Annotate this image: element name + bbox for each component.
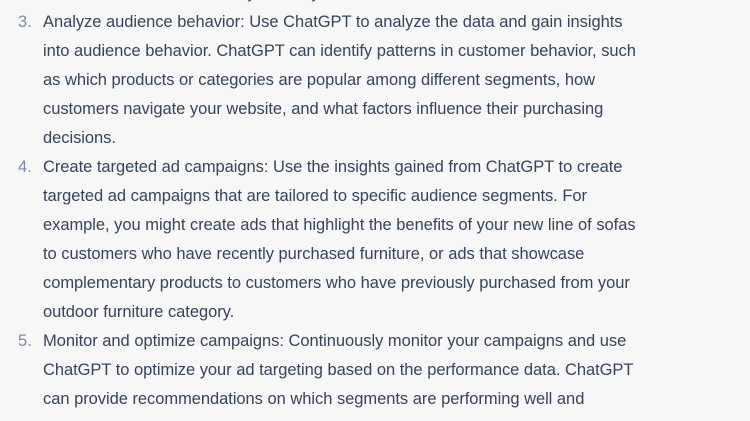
- list-item: 4. Create targeted ad campaigns: Use the…: [0, 153, 732, 327]
- clipped-previous-line-text: customers who have recently visited your…: [43, 0, 643, 8]
- list-item-text: Analyze audience behavior: Use ChatGPT t…: [43, 8, 643, 153]
- numbered-answer-list: 3. Analyze audience behavior: Use ChatGP…: [0, 8, 732, 421]
- list-item: 3. Analyze audience behavior: Use ChatGP…: [0, 8, 732, 153]
- list-item-marker: 5.: [0, 327, 32, 356]
- list-item-marker: 3.: [0, 8, 32, 37]
- clipped-previous-line: customers who have recently visited your…: [0, 0, 732, 8]
- message-viewport[interactable]: customers who have recently visited your…: [0, 0, 750, 421]
- assistant-message-body: customers who have recently visited your…: [0, 0, 750, 421]
- list-item: 5. Monitor and optimize campaigns: Conti…: [0, 327, 732, 421]
- list-item-marker: 4.: [0, 153, 32, 182]
- list-item-text: Monitor and optimize campaigns: Continuo…: [43, 327, 643, 421]
- list-item-text: Create targeted ad campaigns: Use the in…: [43, 153, 643, 327]
